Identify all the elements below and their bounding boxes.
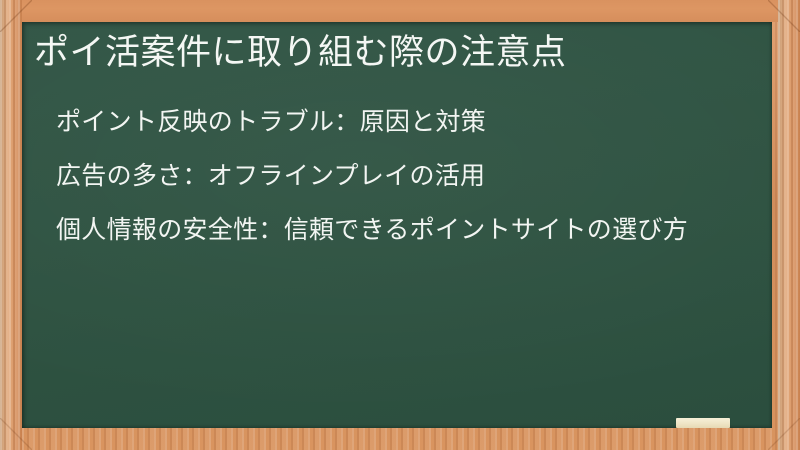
list-item: ポイント反映のトラブル：原因と対策	[56, 100, 762, 144]
list-item: 広告の多さ：オフラインプレイの活用	[56, 154, 762, 198]
chalkboard-surface: ポイ活案件に取り組む際の注意点 ポイント反映のトラブル：原因と対策 広告の多さ：…	[22, 22, 772, 428]
chalk-stick-icon	[676, 418, 730, 428]
frame-rail-left	[0, 0, 22, 450]
bullet-point-list: ポイント反映のトラブル：原因と対策 広告の多さ：オフラインプレイの活用 個人情報…	[56, 100, 762, 252]
chalkboard-wooden-frame: ポイ活案件に取り組む際の注意点 ポイント反映のトラブル：原因と対策 広告の多さ：…	[0, 0, 800, 450]
list-item: 個人情報の安全性：信頼できるポイントサイトの選び方	[56, 208, 762, 252]
frame-rail-bottom	[0, 0, 800, 22]
frame-rail-right	[778, 0, 800, 450]
page-title: ポイ活案件に取り組む際の注意点	[34, 30, 760, 76]
